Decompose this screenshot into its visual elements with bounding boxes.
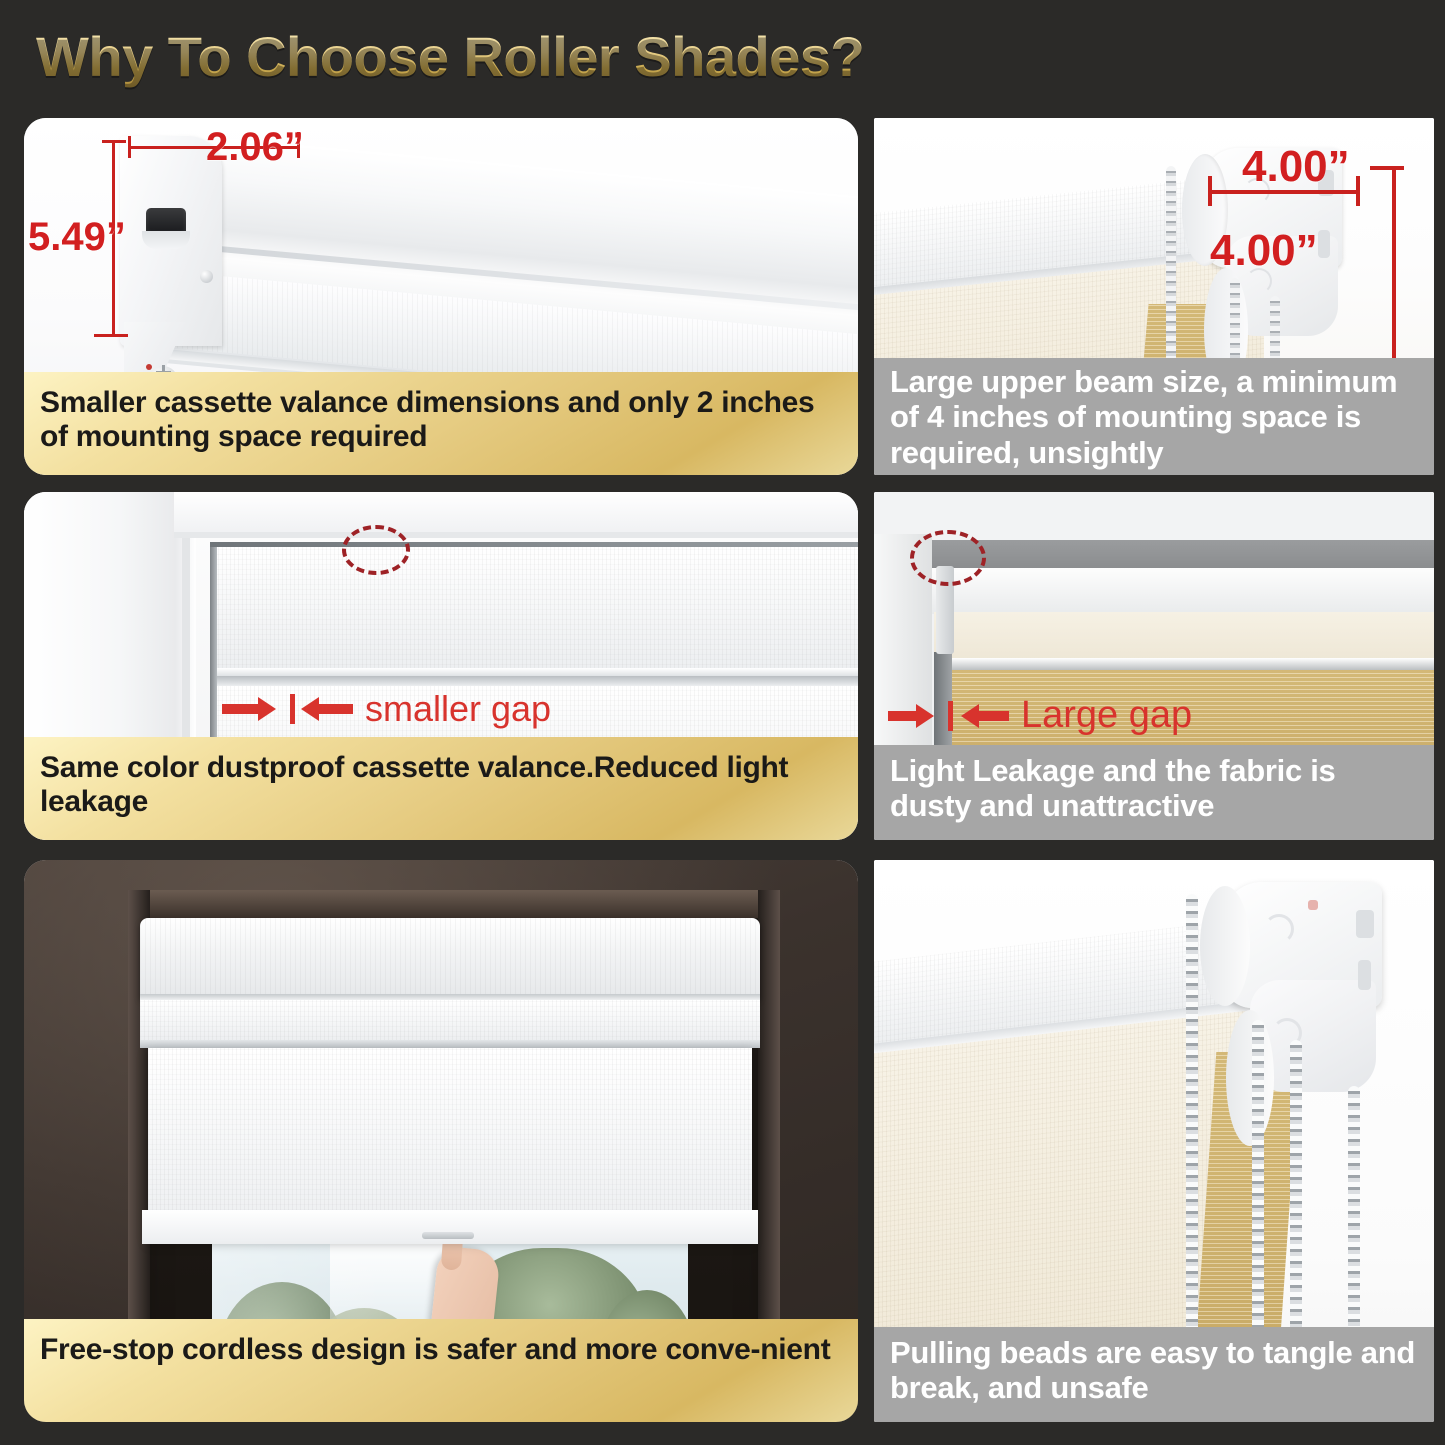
caption-bottom-right: Pulling beads are easy to tangle and bre…	[874, 1327, 1434, 1422]
smaller-gap-label: smaller gap	[365, 688, 551, 730]
panel-middle-right: Large gap Light Leakage and the fabric i…	[874, 492, 1434, 840]
dim-height-tick-bottom	[94, 334, 128, 337]
arrow-right-head-icon	[916, 704, 934, 728]
arrow-right-icon	[222, 704, 258, 714]
infographic-root: Why To Choose Roller Shades?	[0, 0, 1445, 1445]
panel-bottom-right: Pulling beads are easy to tangle and bre…	[874, 860, 1434, 1422]
dim-width-tick-left	[128, 136, 131, 158]
gap-highlight-circle	[342, 525, 410, 575]
arrow-left-head-icon	[301, 697, 319, 721]
gap-highlight-circle	[910, 530, 986, 586]
arrow-right-icon	[888, 711, 916, 721]
panel-top-right: 4.00” 4.00” Large upper beam size, a min…	[874, 118, 1434, 475]
page-title: Why To Choose Roller Shades?	[36, 24, 864, 89]
dim-height-tick-top	[102, 140, 126, 143]
smaller-gap-annotation: smaller gap	[222, 688, 551, 730]
dim-height-label: 4.00”	[1210, 226, 1318, 276]
dim-width-label: 4.00”	[1242, 142, 1350, 192]
panel-bottom-left: Free-stop cordless design is safer and m…	[24, 860, 858, 1422]
caption-top-left: Smaller cassette valance dimensions and …	[24, 372, 858, 475]
caption-top-right: Large upper beam size, a minimum of 4 in…	[874, 358, 1434, 475]
large-gap-annotation: Large gap	[888, 694, 1192, 737]
dim-width-tick-left	[1208, 176, 1212, 206]
arrow-left-head-icon	[961, 704, 979, 728]
dim-height-label: 5.49”	[28, 215, 126, 260]
dim-width-label: 2.06”	[206, 125, 304, 170]
panel-middle-left: smaller gap Same color dustproof cassett…	[24, 492, 858, 840]
cassette-head	[140, 918, 760, 998]
dim-width-tick-right	[1356, 176, 1360, 206]
caption-middle-left: Same color dustproof cassette valance.Re…	[24, 737, 858, 840]
caption-middle-right: Light Leakage and the fabric is dusty an…	[874, 745, 1434, 840]
caption-bottom-left: Free-stop cordless design is safer and m…	[24, 1319, 858, 1422]
dim-height-tick-top	[1370, 166, 1404, 170]
large-gap-label: Large gap	[1021, 694, 1192, 737]
arrow-right-head-icon	[258, 697, 276, 721]
panel-top-left: 2.06” 5.49” Smaller cassette valance dim…	[24, 118, 858, 475]
